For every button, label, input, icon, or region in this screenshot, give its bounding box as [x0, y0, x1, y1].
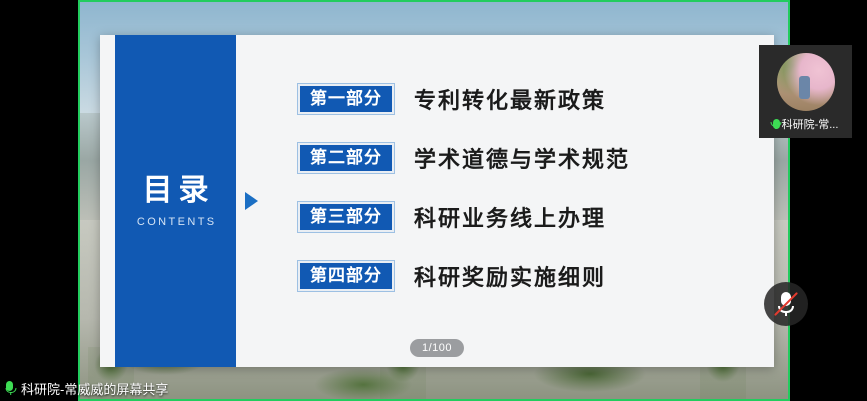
list-item[interactable]: 第一部分 专利转化最新政策 [298, 83, 754, 115]
section-title: 专利转化最新政策 [414, 83, 606, 115]
page-indicator: 1/100 [410, 339, 464, 357]
section-badge: 第三部分 [298, 202, 394, 232]
play-triangle-icon [245, 192, 258, 210]
participant-name-row: 科研院-常... [773, 116, 839, 132]
section-badge: 第一部分 [298, 84, 394, 114]
contents-panel: 目录 CONTENTS [115, 35, 236, 367]
contents-heading-en: CONTENTS [134, 216, 216, 228]
section-badge: 第四部分 [298, 261, 394, 291]
screen-share-status-text: 科研院-常威威的屏幕共享 [21, 379, 168, 398]
microphone-icon [6, 381, 15, 395]
microphone-icon [773, 119, 780, 129]
avatar [777, 53, 835, 111]
shared-screen-region[interactable]: 目录 CONTENTS 第一部分 专利转化最新政策 第二部分 学术道德与学术规范… [78, 0, 790, 401]
contents-heading-cn: 目录 [137, 174, 215, 207]
participant-name: 科研院-常... [782, 116, 839, 132]
section-badge: 第二部分 [298, 143, 394, 173]
meeting-screen-share-view: 目录 CONTENTS 第一部分 专利转化最新政策 第二部分 学术道德与学术规范… [0, 0, 867, 401]
presentation-slide: 目录 CONTENTS 第一部分 专利转化最新政策 第二部分 学术道德与学术规范… [100, 35, 774, 367]
list-item[interactable]: 第三部分 科研业务线上办理 [298, 201, 754, 233]
section-title: 科研业务线上办理 [414, 201, 606, 233]
list-item[interactable]: 第四部分 科研奖励实施细则 [298, 260, 754, 292]
list-item[interactable]: 第二部分 学术道德与学术规范 [298, 142, 754, 174]
section-list: 第一部分 专利转化最新政策 第二部分 学术道德与学术规范 第三部分 科研业务线上… [298, 83, 754, 292]
section-title: 科研奖励实施细则 [414, 260, 606, 292]
screen-share-status-bar: 科研院-常威威的屏幕共享 [0, 375, 174, 401]
section-title: 学术道德与学术规范 [414, 142, 630, 174]
participant-thumbnail[interactable]: 科研院-常... [759, 45, 852, 138]
microphone-muted-icon[interactable] [764, 282, 808, 326]
